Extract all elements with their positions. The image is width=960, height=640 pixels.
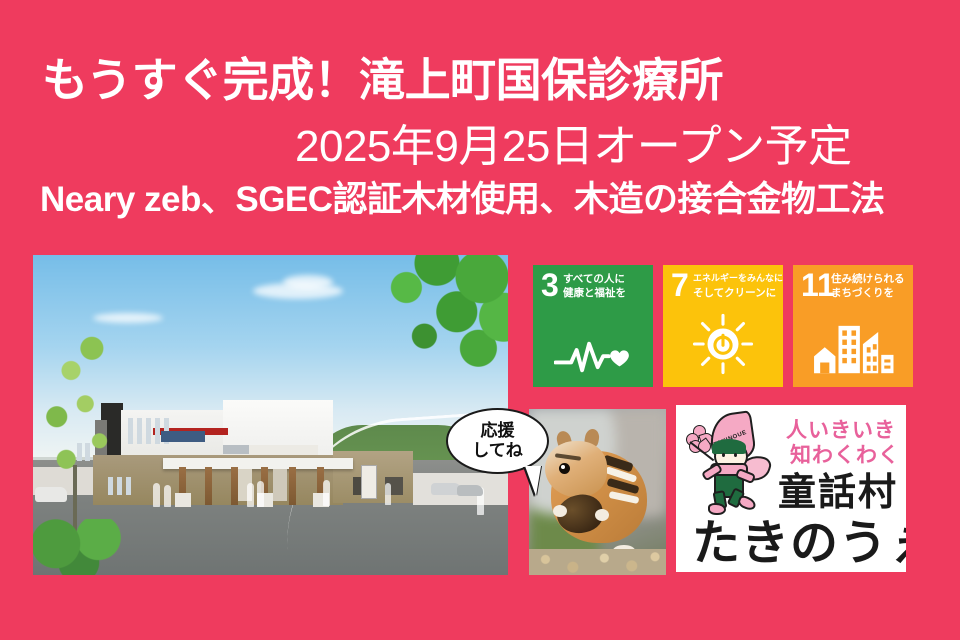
mascot-eye bbox=[734, 453, 737, 457]
window-band bbox=[223, 445, 249, 454]
mascot-shoe bbox=[736, 494, 757, 512]
headline-line-2: 2025年9月25日オープン予定 bbox=[295, 125, 852, 169]
canopy-column bbox=[231, 467, 238, 505]
sdg-title-line-1: 住み続けられる bbox=[831, 273, 905, 285]
window bbox=[155, 418, 160, 444]
foreground-bush bbox=[33, 519, 142, 575]
chipmunk-eye bbox=[559, 463, 570, 474]
heartbeat-icon bbox=[533, 339, 653, 375]
mascot-hair bbox=[712, 439, 746, 454]
sdg-number: 3 bbox=[541, 269, 559, 301]
window-band bbox=[161, 431, 205, 442]
clinic-rendering-photo bbox=[33, 255, 508, 575]
entrance-door bbox=[361, 465, 377, 499]
sdg-icon-11: 11住み続けられるまちづくりを bbox=[793, 265, 913, 387]
mascot-eye bbox=[722, 453, 725, 457]
bubble-tail bbox=[525, 466, 541, 496]
logo-middle-text: 童話村 bbox=[778, 461, 898, 516]
column-base bbox=[175, 493, 191, 507]
chipmunk-paw bbox=[595, 509, 609, 521]
takinoue-town-logo: TAKINOUE 人いきいき 知わくわく 童話村 たきのうぇ bbox=[676, 405, 906, 572]
headline-line-1: もうすぐ完成！滝上町国保診療所 bbox=[42, 57, 723, 103]
sdg-icon-row: 3すべての人に健康と福祉を7エネルギーをみんなにそしてクリーンに11住み続けられ… bbox=[533, 265, 913, 387]
cityscape-icon bbox=[793, 321, 913, 375]
canopy-column bbox=[205, 467, 212, 505]
sdg-icon-3: 3すべての人に健康と福祉を bbox=[533, 265, 653, 387]
chipmunk-head bbox=[545, 441, 607, 497]
takinoue-mascot: TAKINOUE bbox=[684, 411, 774, 511]
sdg-icon-7: 7エネルギーをみんなにそしてクリーンに bbox=[663, 265, 783, 387]
figure bbox=[385, 483, 391, 505]
entrance-canopy bbox=[163, 458, 353, 469]
window bbox=[146, 418, 151, 444]
canopy-column bbox=[289, 467, 296, 505]
figure bbox=[257, 481, 264, 507]
bubble-line-2: してね bbox=[472, 441, 523, 461]
car bbox=[457, 485, 483, 496]
poster-canvas: もうすぐ完成！滝上町国保診療所 2025年9月25日オープン予定 Neary z… bbox=[0, 0, 960, 640]
window bbox=[128, 418, 133, 444]
cloud bbox=[283, 275, 333, 289]
foreground-tree-top-right bbox=[338, 255, 508, 382]
sdg-title-line-2: まちづくりを bbox=[831, 287, 894, 299]
figure bbox=[247, 483, 254, 507]
headline-line-3: Neary zeb、SGEC認証木材使用、木造の接合金物工法 bbox=[40, 182, 885, 217]
figure bbox=[164, 485, 171, 507]
cheer-speech-bubble: 応援 してね bbox=[446, 408, 549, 474]
bubble-line-1: 応援 bbox=[481, 421, 515, 441]
figure bbox=[153, 483, 160, 507]
gravel-ground bbox=[529, 549, 666, 575]
window bbox=[137, 418, 142, 444]
chipmunk-paw bbox=[553, 505, 567, 517]
sdg-title-line-2: そしてクリーンに bbox=[693, 287, 776, 299]
logo-bottom-text: たきのうぇ bbox=[692, 520, 906, 568]
sun-power-icon bbox=[663, 313, 783, 375]
sdg-number: 11 bbox=[801, 269, 835, 301]
sdg-title-line-1: すべての人に bbox=[563, 273, 625, 285]
sdg-number: 7 bbox=[671, 269, 689, 301]
foreground-tree-left bbox=[33, 315, 128, 500]
figure bbox=[323, 480, 330, 506]
sdg-title-line-1: エネルギーをみんなに bbox=[693, 273, 783, 283]
sdg-title-line-2: 健康と福祉を bbox=[563, 287, 626, 299]
chipmunk-photo bbox=[529, 409, 666, 575]
glass-door bbox=[273, 469, 287, 501]
mascot-shoe bbox=[708, 503, 726, 515]
